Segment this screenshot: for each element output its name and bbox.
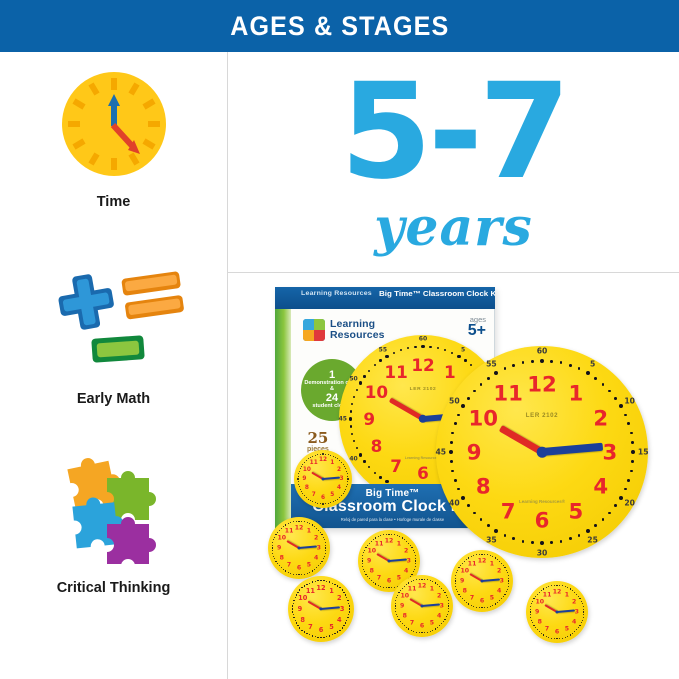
minute-tick <box>507 589 508 590</box>
ages-panel: 5-7 years <box>228 52 679 272</box>
minute-tick <box>323 537 324 538</box>
minute-tick <box>325 454 326 455</box>
minute-tick <box>583 617 584 618</box>
minute-tick <box>450 441 453 444</box>
hour-number: 7 <box>390 456 402 476</box>
minute-number: 35 <box>486 535 497 544</box>
hour-number: 5 <box>569 498 584 523</box>
hour-number: 4 <box>593 473 608 498</box>
minute-tick <box>283 569 284 570</box>
student-clock-3: 121234567891011 <box>451 550 513 612</box>
minute-tick <box>630 470 633 473</box>
math-symbols-icon-art <box>0 267 227 380</box>
minute-tick <box>583 609 584 610</box>
minute-tick <box>583 606 584 607</box>
hour-number: 6 <box>319 626 324 634</box>
minute-tick <box>406 627 407 628</box>
hour-number: 10 <box>468 406 498 431</box>
hour-number: 6 <box>420 622 424 629</box>
minute-tick <box>554 638 555 639</box>
minute-tick <box>570 588 572 590</box>
minute-tick <box>298 484 299 485</box>
minute-tick <box>402 537 404 539</box>
minute-tick <box>325 542 326 543</box>
hour-number: 9 <box>400 603 404 610</box>
minute-tick <box>539 592 540 593</box>
hour-number: 8 <box>370 567 374 574</box>
minute-tick <box>312 581 313 582</box>
minute-tick <box>630 432 633 435</box>
hour-number: 3 <box>340 476 344 482</box>
minute-tick <box>373 582 374 583</box>
minute-number: 55 <box>379 346 387 353</box>
minute-tick <box>386 534 387 535</box>
minute-number: 60 <box>537 346 548 355</box>
hour-number: 8 <box>403 612 407 619</box>
minute-number: 40 <box>449 498 460 507</box>
minute-tick <box>467 504 470 507</box>
student-clock-1: 121234567891011 <box>268 517 330 579</box>
minute-tick <box>339 630 340 631</box>
minute-tick <box>541 590 542 591</box>
minute-number: 10 <box>624 397 635 406</box>
hour-number: 3 <box>602 440 617 465</box>
minute-tick <box>281 528 282 529</box>
minute-tick <box>415 555 416 556</box>
minute-tick <box>350 410 352 412</box>
minute-tick <box>450 460 453 463</box>
hour-number: 2 <box>572 599 576 606</box>
minute-tick <box>504 594 506 596</box>
student-clock-6: 121234567891011 <box>526 581 588 643</box>
minute-tick <box>298 521 300 523</box>
minute-tick <box>487 607 488 608</box>
minute-tick <box>295 597 296 598</box>
minute-tick <box>582 620 583 621</box>
feature-early-math: Early Math <box>0 267 227 408</box>
hour-number: 12 <box>295 525 304 532</box>
hour-number: 10 <box>401 593 410 600</box>
hour-number: 4 <box>572 618 576 625</box>
minute-tick <box>367 545 368 546</box>
minute-tick <box>460 565 461 566</box>
minute-tick <box>320 454 321 455</box>
demonstration-clock: 60510152025303540455055121234567891011LE… <box>436 346 648 558</box>
minute-tick <box>560 540 563 543</box>
hour-number: 5 <box>490 595 494 602</box>
minute-tick <box>508 578 509 579</box>
minute-tick <box>369 543 370 544</box>
minute-tick <box>448 600 449 601</box>
hour-number: 11 <box>306 587 315 595</box>
minute-tick <box>429 346 431 348</box>
header-banner: AGES & STAGES <box>0 0 679 52</box>
hour-number: 7 <box>287 562 291 569</box>
hour-number: 7 <box>545 626 549 633</box>
minute-tick <box>373 539 374 540</box>
minute-tick <box>321 561 323 563</box>
minute-tick <box>479 554 480 555</box>
minute-tick <box>467 397 470 400</box>
minute-tick <box>378 585 379 586</box>
hour-number: 7 <box>501 498 516 523</box>
minute-tick <box>631 460 634 463</box>
minute-tick <box>333 456 334 457</box>
hour-number: 9 <box>460 578 464 585</box>
minute-tick <box>464 561 465 562</box>
hour-number: 10 <box>368 548 377 555</box>
minute-tick <box>435 582 437 584</box>
hour-number: 10 <box>298 594 307 602</box>
age-unit: years <box>228 202 679 254</box>
hour-number: 9 <box>367 558 371 565</box>
minute-tick <box>565 637 566 638</box>
minute-tick <box>306 460 307 461</box>
minute-tick <box>416 632 417 633</box>
hour-number: 4 <box>337 616 342 624</box>
minute-tick <box>461 496 465 500</box>
minute-tick <box>490 606 491 607</box>
minute-tick <box>308 499 309 500</box>
hour-number: 8 <box>371 436 383 456</box>
equals-icon <box>121 271 184 320</box>
hour-number: 10 <box>365 382 388 402</box>
minute-tick <box>479 607 480 608</box>
minute-number: 20 <box>624 498 635 507</box>
minute-tick <box>296 594 298 596</box>
minute-tick <box>631 441 634 444</box>
minute-tick <box>296 574 297 575</box>
minute-tick <box>556 585 558 587</box>
minute-tick <box>508 586 509 587</box>
clock-center-pin[interactable] <box>537 447 548 458</box>
minute-tick <box>385 480 388 483</box>
minute-tick <box>304 462 305 463</box>
hour-number: 3 <box>500 578 504 585</box>
minus-icon <box>91 335 145 363</box>
hour-number: 5 <box>307 562 311 569</box>
features-column: Time <box>0 52 227 679</box>
hour-number: 1 <box>490 560 494 567</box>
minute-tick <box>320 637 322 639</box>
minute-tick <box>578 596 579 597</box>
minute-tick <box>562 638 563 639</box>
page-root: AGES & STAGES <box>0 0 679 679</box>
minute-tick <box>304 631 305 632</box>
minute-tick <box>306 584 308 586</box>
hour-number: 12 <box>385 538 394 545</box>
hour-number: 6 <box>535 507 550 532</box>
hour-number: 11 <box>375 540 384 547</box>
minute-tick <box>395 605 397 607</box>
minute-tick <box>454 422 457 425</box>
hour-number: 9 <box>302 476 306 482</box>
minute-tick <box>454 479 457 482</box>
minute-tick <box>400 590 401 591</box>
hour-number: 2 <box>404 548 408 555</box>
minute-tick <box>386 587 387 588</box>
minute-tick <box>495 557 497 559</box>
minute-tick <box>550 541 553 544</box>
minute-tick <box>458 594 460 596</box>
minute-tick <box>402 588 403 589</box>
product-photo: Learning Resources Big Time™ Classroom C… <box>228 273 679 679</box>
minute-tick <box>443 590 444 591</box>
minute-tick <box>325 553 326 554</box>
hour-number: 2 <box>337 594 342 602</box>
hour-number: 6 <box>480 597 484 604</box>
hour-number: 3 <box>317 545 321 552</box>
hour-number: 3 <box>340 605 345 613</box>
minute-tick <box>495 603 497 605</box>
hour-number: 12 <box>418 583 427 590</box>
minute-tick <box>419 632 420 633</box>
minute-tick <box>554 585 555 586</box>
hour-number: 1 <box>307 527 311 534</box>
minute-tick <box>550 360 553 363</box>
minute-tick <box>414 569 415 570</box>
hour-number: 12 <box>316 584 325 592</box>
puzzle-pieces-icon-art <box>0 452 227 569</box>
box-top-title: Big Time™ Classroom Clock Kit <box>379 289 495 297</box>
hour-number: 2 <box>314 535 318 542</box>
hour-number: 5 <box>565 626 569 633</box>
minute-tick <box>541 633 542 634</box>
minute-tick <box>551 638 552 639</box>
student-clock-5: 121234567891011 <box>391 575 453 637</box>
minute-tick <box>312 635 313 636</box>
hour-number: 2 <box>497 568 501 575</box>
minute-tick <box>299 471 300 472</box>
minute-tick <box>602 383 605 386</box>
minute-tick <box>466 602 467 603</box>
minute-tick <box>586 371 590 375</box>
minute-tick <box>512 364 515 367</box>
minute-tick <box>288 572 289 573</box>
hour-number: 7 <box>470 595 474 602</box>
hour-number: 9 <box>535 609 539 616</box>
minute-tick <box>383 587 384 588</box>
minute-tick <box>533 625 535 627</box>
minute-tick <box>306 497 307 498</box>
minute-tick <box>466 559 467 560</box>
minute-tick <box>332 583 333 584</box>
clock-model-text: LER 2102 <box>526 412 558 419</box>
minute-tick <box>349 611 350 612</box>
clock-center-pin[interactable] <box>322 478 325 481</box>
minute-tick <box>298 476 299 477</box>
minute-tick <box>487 524 490 527</box>
feature-label-critical-thinking: Critical Thinking <box>0 579 227 597</box>
minute-tick <box>627 479 630 482</box>
hour-number: 10 <box>536 599 545 606</box>
minute-tick <box>359 381 362 384</box>
minute-tick <box>481 554 483 556</box>
box-spine <box>275 309 291 529</box>
hour-number: 8 <box>538 618 542 625</box>
hour-number: 6 <box>555 628 559 635</box>
minute-number: 45 <box>435 448 446 457</box>
minute-tick <box>356 389 358 391</box>
minute-tick <box>309 583 310 584</box>
minute-tick <box>508 575 509 576</box>
hour-number: 1 <box>569 381 584 406</box>
minute-tick <box>385 355 388 358</box>
hour-number: 1 <box>397 540 401 547</box>
clock-icon-art <box>0 70 227 183</box>
minute-number: 30 <box>537 549 548 558</box>
hour-number: 1 <box>565 591 569 598</box>
minute-tick <box>531 541 534 544</box>
hour-number: 8 <box>300 616 305 624</box>
feature-critical-thinking: Critical Thinking <box>0 452 227 597</box>
hour-number: 10 <box>278 535 287 542</box>
minute-tick <box>341 462 342 463</box>
minute-tick <box>535 596 536 597</box>
minute-number: 45 <box>339 416 347 423</box>
minute-tick <box>347 484 348 485</box>
minute-tick <box>322 453 324 455</box>
minute-tick <box>411 630 412 631</box>
minute-tick <box>312 524 314 526</box>
hour-number: 11 <box>310 460 318 466</box>
minute-tick <box>379 476 381 478</box>
minute-tick <box>328 454 329 455</box>
minute-tick <box>379 359 381 361</box>
box-top-brand: Learning Resources <box>301 291 372 297</box>
minute-number: 50 <box>349 375 357 382</box>
hour-number: 11 <box>285 527 294 534</box>
minute-tick <box>410 545 411 546</box>
minute-tick <box>404 586 405 587</box>
hour-number: 2 <box>337 467 341 473</box>
hour-number: 6 <box>297 564 301 571</box>
hour-number: 11 <box>493 381 523 406</box>
feature-time: Time <box>0 70 227 211</box>
minute-tick <box>297 592 298 593</box>
pieces-count: 25 <box>307 431 329 446</box>
hour-number: 12 <box>527 372 557 397</box>
minute-tick <box>471 605 472 606</box>
hour-number: 1 <box>329 587 334 595</box>
minute-number: 25 <box>587 535 598 544</box>
minute-tick <box>363 460 365 462</box>
clock-brand-text: Learning Resources® <box>519 500 565 505</box>
minute-tick <box>362 558 363 559</box>
hour-number: 4 <box>497 587 501 594</box>
minute-tick <box>449 450 453 454</box>
minute-tick <box>388 534 390 536</box>
hour-number: 7 <box>308 623 313 631</box>
minute-tick <box>406 584 407 585</box>
minute-tick <box>347 600 348 601</box>
minute-tick <box>540 359 544 363</box>
minute-tick <box>322 503 324 505</box>
minute-tick <box>455 580 457 582</box>
hour-number: 12 <box>319 457 327 463</box>
minute-tick <box>298 481 299 482</box>
minute-tick <box>342 627 343 628</box>
minute-tick <box>283 526 284 527</box>
minute-tick <box>476 607 477 608</box>
minute-tick <box>414 346 416 348</box>
minute-tick <box>349 605 350 606</box>
minute-tick <box>328 503 329 504</box>
minute-tick <box>427 632 428 633</box>
minute-tick <box>522 540 525 543</box>
minute-tick <box>295 620 296 621</box>
minute-tick <box>275 561 277 563</box>
minute-tick <box>421 579 423 581</box>
minute-tick <box>293 600 294 601</box>
minute-tick <box>307 573 308 574</box>
hour-number: 11 <box>384 362 407 382</box>
minute-tick <box>324 556 325 557</box>
puzzle-piece-purple <box>107 517 156 564</box>
hour-number: 7 <box>377 575 381 582</box>
minute-tick <box>614 397 617 400</box>
minute-tick <box>503 565 504 566</box>
minute-tick <box>581 601 582 602</box>
minute-tick <box>362 560 364 562</box>
age-range: 5-7 <box>228 66 679 198</box>
minute-tick <box>293 603 294 604</box>
minute-tick <box>415 566 416 567</box>
hour-number: 5 <box>329 623 334 631</box>
hour-number: 6 <box>417 463 429 483</box>
minute-tick <box>446 595 447 596</box>
minute-tick <box>272 547 274 549</box>
hour-number: 9 <box>277 545 281 552</box>
hour-number: 8 <box>476 473 491 498</box>
minute-tick <box>462 563 463 564</box>
student-clock-front: 121234567891011 <box>294 450 352 508</box>
minute-tick <box>504 534 507 537</box>
minute-tick <box>435 628 437 630</box>
minute-tick <box>473 390 476 393</box>
minute-tick <box>473 512 476 515</box>
hour-number: 9 <box>363 409 375 429</box>
minute-tick <box>350 425 352 427</box>
minute-tick <box>293 574 294 575</box>
minute-tick <box>586 529 590 533</box>
minute-number: 55 <box>486 360 497 369</box>
minute-tick <box>448 611 449 612</box>
minute-tick <box>419 579 420 580</box>
clock-model-text: LER 2102 <box>410 387 437 392</box>
hour-number: 12 <box>478 558 487 565</box>
hour-number: 11 <box>468 560 477 567</box>
minute-tick <box>315 581 316 582</box>
minute-tick <box>365 574 367 576</box>
minute-tick <box>531 360 534 363</box>
minute-tick <box>359 453 362 456</box>
minute-tick <box>315 455 316 456</box>
minute-tick <box>415 558 416 559</box>
minute-tick <box>371 541 372 542</box>
minute-tick <box>546 636 547 637</box>
minute-tick <box>579 625 581 627</box>
minute-tick <box>317 637 318 638</box>
minute-tick <box>530 609 531 610</box>
minute-tick <box>363 375 365 377</box>
minute-tick <box>347 478 349 480</box>
minute-tick <box>393 352 395 354</box>
hour-number: 3 <box>440 603 444 610</box>
clock-icon <box>60 70 168 178</box>
minute-tick <box>444 619 446 621</box>
minute-tick <box>304 585 305 586</box>
